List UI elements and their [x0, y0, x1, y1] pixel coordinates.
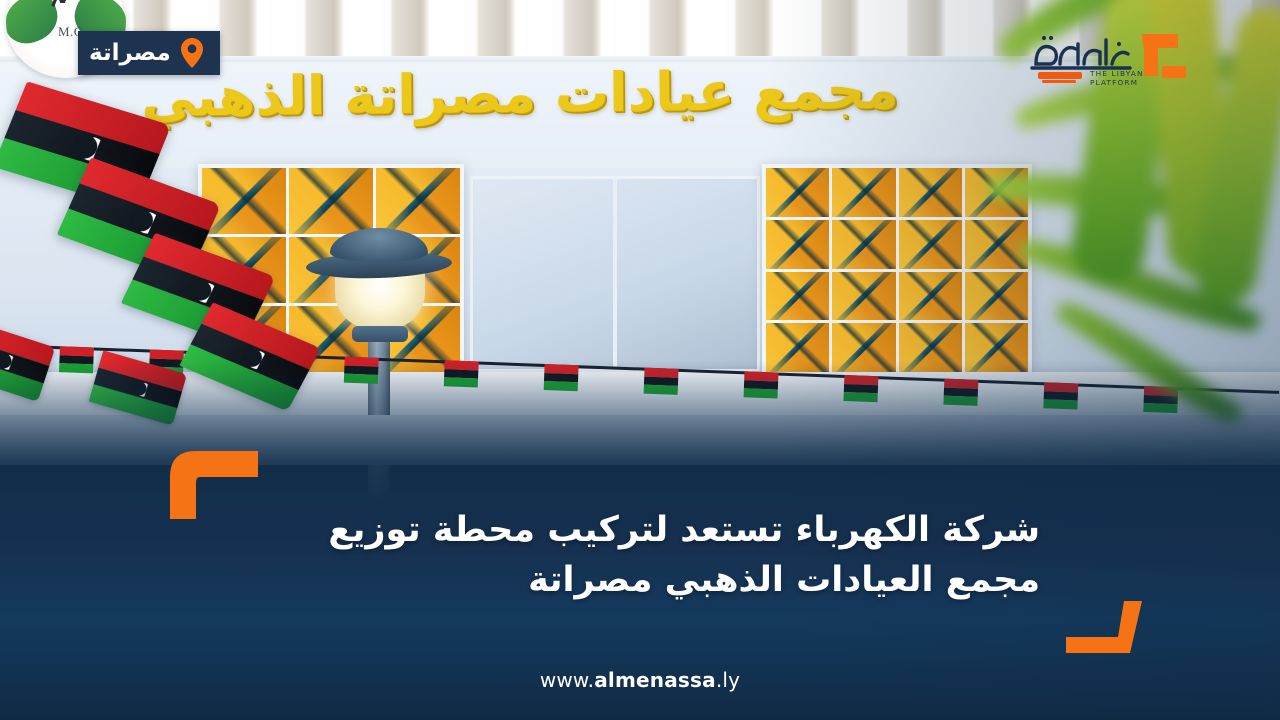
location-badge-label: مصراتة: [89, 42, 171, 65]
gradient-overlay-right: [768, 0, 1280, 720]
site-url-tld: .ly: [716, 668, 740, 692]
headline: شركة الكهرباء تستعد لتركيب محطة توزيع مج…: [230, 506, 1040, 605]
corner-bracket-bottom-right-icon: [1066, 601, 1152, 663]
news-card: مجمع عيادات مصراتة الذهبي: [0, 0, 1280, 720]
site-url[interactable]: www.almenassa.ly: [0, 668, 1280, 692]
site-url-domain: almenassa: [594, 668, 716, 692]
brand-latin-line1: THE LIBYAN: [1089, 69, 1144, 78]
site-url-prefix: www.: [540, 668, 594, 692]
map-pin-icon: [180, 38, 204, 68]
location-badge[interactable]: مصراتة: [78, 31, 220, 75]
brand-latin-line2: PLATFORM: [1090, 78, 1138, 87]
brand-logo[interactable]: THE LIBYAN PLATFORM: [1018, 18, 1194, 90]
